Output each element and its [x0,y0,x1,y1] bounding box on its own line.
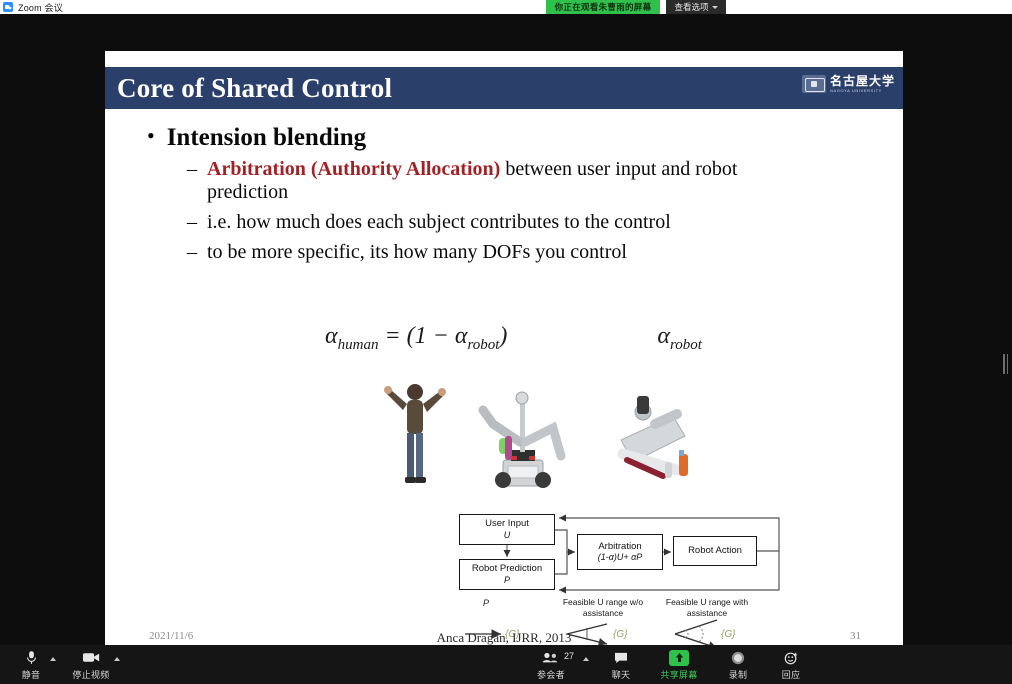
screen-share-banner: 你正在观看朱曹雨的屏幕 [546,0,660,14]
sub-bullet-3-text: to be more specific, its how many DOFs y… [207,241,627,264]
university-crest-icon [802,75,826,93]
slide-body: • Intension blending – Arbitration (Auth… [105,113,903,264]
box-label: Arbitration [598,541,641,552]
chat-label: 聊天 [612,668,631,681]
main-bullet: • Intension blending [147,125,903,151]
sub-bullet-1-text: Arbitration (Authority Allocation) betwe… [207,158,817,204]
fallen-robot-photo [593,388,701,488]
box-sublabel: P [504,575,510,586]
participants-label: 参会者 [537,668,565,681]
arbitration-equation: αhuman = (1 − αrobot) αrobot [325,323,885,354]
mute-options-chevron-icon[interactable] [50,657,56,661]
window-title-bar: Zoom 会议 [0,0,1012,14]
diagram-box-robot-prediction: Robot Prediction P [459,559,555,590]
reactions-icon [784,649,798,666]
stop-video-label: 停止视频 [72,668,109,681]
stop-video-button[interactable]: 停止视频 [64,649,118,681]
sub-bullet-1: – Arbitration (Authority Allocation) bet… [187,158,903,204]
sub-bullet-3: – to be more specific, its how many DOFs… [187,241,903,264]
participants-chevron-icon[interactable] [583,657,589,661]
diagram-box-user-input: User Input U [459,514,555,545]
reactions-button[interactable]: 回应 [764,649,818,681]
share-screen-label: 共享屏幕 [660,668,697,681]
dash-icon: – [187,158,197,204]
dash-icon: – [187,241,197,264]
people-icon [542,649,560,666]
camera-icon [83,649,100,666]
panel-drag-handle[interactable] [1002,352,1009,376]
share-screen-icon [669,649,689,666]
slide-title: Core of Shared Control [117,73,392,104]
box-label: Robot Prediction [472,563,542,574]
box-label: Robot Action [688,545,742,556]
mobile-manipulator-robot-photo [465,384,580,492]
window-title: Zoom 会议 [18,1,63,14]
sub-bullet-2-text: i.e. how much does each subject contribu… [207,211,671,234]
record-label: 录制 [729,668,748,681]
box-sublabel: (1-α)U+ αP [598,552,643,563]
nagoya-university-logo: 名古屋大学 NAGOYA UNIVERSITY [802,75,895,93]
participants-count: 27 [564,651,574,661]
box-label: User Input [485,518,529,529]
chevron-down-icon [712,6,718,9]
equation-right: αrobot [657,323,702,354]
video-options-chevron-icon[interactable] [114,657,120,661]
person-photo [383,378,447,490]
logo-japanese-text: 名古屋大学 [830,75,895,87]
caption-feasible-range-with: Feasible U range with assistance [655,597,759,618]
diagram-p-label: P [483,598,489,608]
slide-page-number: 31 [850,630,861,642]
main-bullet-text: Intension blending [167,125,366,151]
dash-icon: – [187,211,197,234]
chat-bubble-icon [614,649,628,666]
zoom-icon [3,2,13,12]
sub-bullet-2: – i.e. how much does each subject contri… [187,211,903,234]
presentation-slide: Core of Shared Control 名古屋大学 NAGOYA UNIV… [105,51,903,658]
sub-bullet-1-highlight: Arbitration (Authority Allocation) [207,158,500,180]
caption-feasible-range-without: Feasible U range w/o assistance [551,597,655,618]
robot-photo-row [355,376,685,491]
record-button[interactable]: 录制 [711,649,765,681]
record-circle-icon [731,649,745,666]
diagram-box-arbitration: Arbitration (1-α)U+ αP [577,534,663,570]
share-screen-button[interactable]: 共享屏幕 [652,649,706,681]
shared-screen-stage: Core of Shared Control 名古屋大学 NAGOYA UNIV… [0,14,1012,645]
slide-header: Core of Shared Control 名古屋大学 NAGOYA UNIV… [105,65,903,111]
logo-english-text: NAGOYA UNIVERSITY [830,89,895,93]
microphone-icon [26,649,37,666]
box-sublabel: U [504,530,511,541]
view-options-label: 查看选项 [674,1,708,13]
equation-left: αhuman = (1 − αrobot) [325,323,507,354]
view-options-button[interactable]: 查看选项 [666,0,726,14]
mute-button[interactable]: 静音 [4,649,58,681]
slide-citation: Anca Dragan, IJRR, 2013 [105,630,903,646]
chat-button[interactable]: 聊天 [594,649,648,681]
reactions-label: 回应 [782,668,801,681]
mute-label: 静音 [22,668,41,681]
bullet-dot-icon: • [147,125,155,151]
diagram-box-robot-action: Robot Action [673,536,757,566]
meeting-toolbar: 静音 停止视频 参会者 27 聊天 [0,645,1012,684]
